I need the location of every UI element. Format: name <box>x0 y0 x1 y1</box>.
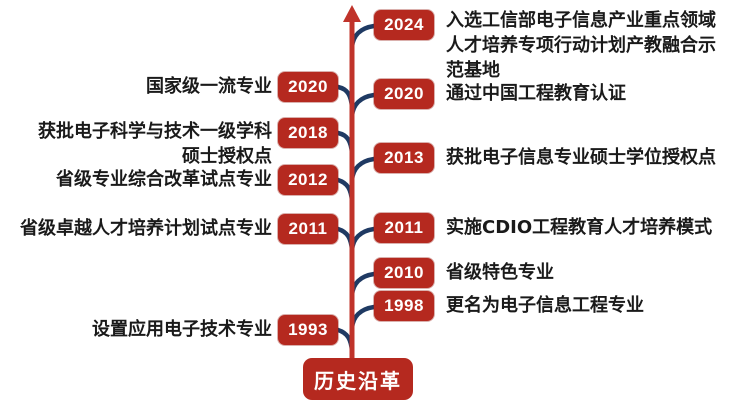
event-label-right-2013: 获批电子信息专业硕士学位授权点 <box>446 145 736 170</box>
connector-right-2013 <box>352 159 374 180</box>
up-arrow-icon <box>343 5 361 22</box>
year-badge-left-1993[interactable]: 1993 <box>278 315 338 345</box>
year-badge-right-2013[interactable]: 2013 <box>374 143 434 173</box>
year-badge-right-2011[interactable]: 2011 <box>374 213 434 243</box>
year-badge-left-2012[interactable]: 2012 <box>278 165 338 195</box>
event-label-left-1993: 设置应用电子技术专业 <box>92 317 272 342</box>
timeline-infographic: 国家级一流专业 2020 获批电子科学与技术一级学科 硕士授权点 2018 省级… <box>0 0 736 415</box>
connector-right-1998 <box>352 307 374 328</box>
connector-group-right <box>352 26 374 328</box>
year-badge-right-2020[interactable]: 2020 <box>374 79 434 109</box>
year-badge-right-2010[interactable]: 2010 <box>374 258 434 288</box>
event-label-left-2012: 省级专业综合改革试点专业 <box>56 167 272 192</box>
event-label-right-2024: 入选工信部电子信息产业重点领域 人才培养专项行动计划产教融合示 范基地 <box>446 8 736 83</box>
root-node-history[interactable]: 历史沿革 <box>303 358 413 400</box>
event-label-right-2010: 省级特色专业 <box>446 260 736 285</box>
connector-right-2020 <box>352 95 374 116</box>
connector-right-2011 <box>352 229 374 250</box>
event-label-right-2011: 实施CDIO工程教育人才培养模式 <box>446 215 736 240</box>
connector-right-2010 <box>352 274 374 295</box>
event-label-left-2011: 省级卓越人才培养计划试点专业 <box>20 216 272 241</box>
year-badge-right-1998[interactable]: 1998 <box>374 291 434 321</box>
year-badge-left-2020[interactable]: 2020 <box>278 72 338 102</box>
event-label-right-2020: 通过中国工程教育认证 <box>446 81 736 106</box>
year-badge-right-2024[interactable]: 2024 <box>374 10 434 40</box>
event-label-left-2020: 国家级一流专业 <box>146 74 272 99</box>
year-badge-left-2018[interactable]: 2018 <box>278 118 338 148</box>
event-label-right-1998: 更名为电子信息工程专业 <box>446 293 736 318</box>
connector-right-2024 <box>352 26 374 47</box>
year-badge-left-2011[interactable]: 2011 <box>278 214 338 244</box>
event-label-left-2018: 获批电子科学与技术一级学科 硕士授权点 <box>38 119 272 169</box>
